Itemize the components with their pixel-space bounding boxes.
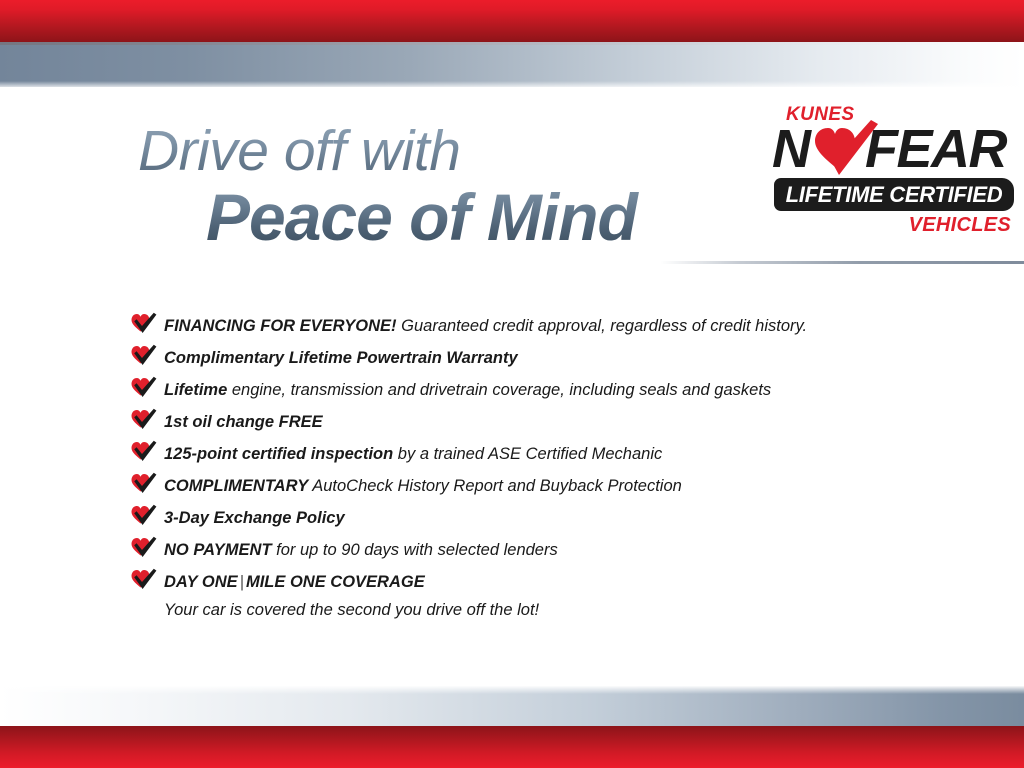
heart-check-bullet-icon <box>131 472 157 494</box>
logo-bar-label: LIFETIME CERTIFIED <box>786 182 1003 208</box>
list-item-separator: | <box>238 573 246 591</box>
list-item: NO PAYMENT for up to 90 days with select… <box>131 534 931 566</box>
logo-letter-n: N <box>772 122 810 176</box>
list-item: 1st oil change FREE <box>131 406 931 438</box>
bottom-red-band <box>0 726 1024 768</box>
heart-check-bullet-icon <box>131 568 157 590</box>
list-item-bold: Complimentary Lifetime Powertrain Warran… <box>164 349 518 367</box>
headline-line-1: Drive off with <box>138 122 758 180</box>
list-item-bold: COMPLIMENTARY <box>164 477 308 495</box>
list-item-rest: AutoCheck History Report and Buyback Pro… <box>308 477 682 495</box>
headline-line-2: Peace of Mind <box>206 184 758 251</box>
list-item: Lifetime engine, transmission and drivet… <box>131 374 931 406</box>
list-item-text: 3-Day Exchange Policy <box>164 502 931 534</box>
list-item: COMPLIMENTARY AutoCheck History Report a… <box>131 470 931 502</box>
headline: Drive off with Peace of Mind <box>138 122 758 251</box>
bottom-gray-band <box>0 686 1024 726</box>
list-item: DAY ONE|MILE ONE COVERAGE Your car is co… <box>131 566 931 622</box>
list-item-text: Lifetime engine, transmission and drivet… <box>164 374 931 406</box>
header-divider <box>660 261 1024 264</box>
list-item: 125-point certified inspection by a trai… <box>131 438 931 470</box>
kunes-no-fear-logo: KUNES N FEAR LIFETIME CERTIFIED VEHICLES <box>770 104 1015 244</box>
list-item-bold: Lifetime <box>164 381 227 399</box>
list-item-text: 125-point certified inspection by a trai… <box>164 438 931 470</box>
list-item-bold-b: MILE ONE COVERAGE <box>246 573 425 591</box>
promo-poster: Drive off with Peace of Mind KUNES N FEA… <box>0 0 1024 768</box>
heart-check-bullet-icon <box>131 344 157 366</box>
list-item-bold: FINANCING FOR EVERYONE! <box>164 317 397 335</box>
list-item-bold: 1st oil change FREE <box>164 413 323 431</box>
logo-word-fear: FEAR <box>865 122 1006 176</box>
list-item-text: FINANCING FOR EVERYONE! Guaranteed credi… <box>164 310 931 342</box>
list-item: 3-Day Exchange Policy <box>131 502 931 534</box>
list-item-subline: Your car is covered the second you drive… <box>164 598 931 622</box>
list-item-text: Complimentary Lifetime Powertrain Warran… <box>164 342 931 374</box>
list-item-text: NO PAYMENT for up to 90 days with select… <box>164 534 931 566</box>
heart-checkmark-icon <box>808 118 882 180</box>
heart-check-bullet-icon <box>131 376 157 398</box>
list-item: FINANCING FOR EVERYONE! Guaranteed credi… <box>131 310 931 342</box>
top-gray-band <box>0 42 1024 87</box>
logo-no-fear-wordmark: N FEAR <box>772 122 1015 178</box>
list-item-bold: NO PAYMENT <box>164 541 272 559</box>
list-item-text: COMPLIMENTARY AutoCheck History Report a… <box>164 470 931 502</box>
heart-check-bullet-icon <box>131 312 157 334</box>
heart-check-bullet-icon <box>131 440 157 462</box>
logo-vehicles-label: VEHICLES <box>909 214 1011 237</box>
top-red-band <box>0 0 1024 42</box>
heart-check-bullet-icon <box>131 504 157 526</box>
list-item-bold: 3-Day Exchange Policy <box>164 509 345 527</box>
heart-check-bullet-icon <box>131 408 157 430</box>
logo-lifetime-certified-bar: LIFETIME CERTIFIED <box>774 178 1014 211</box>
list-item-rest: Guaranteed credit approval, regardless o… <box>397 317 808 335</box>
benefits-list: FINANCING FOR EVERYONE! Guaranteed credi… <box>131 310 931 622</box>
list-item-rest: by a trained ASE Certified Mechanic <box>393 445 662 463</box>
list-item-bold: 125-point certified inspection <box>164 445 393 463</box>
list-item-text: 1st oil change FREE <box>164 406 931 438</box>
list-item: Complimentary Lifetime Powertrain Warran… <box>131 342 931 374</box>
heart-check-bullet-icon <box>131 536 157 558</box>
list-item-rest: for up to 90 days with selected lenders <box>272 541 558 559</box>
list-item-rest: engine, transmission and drivetrain cove… <box>227 381 771 399</box>
list-item-text: DAY ONE|MILE ONE COVERAGE <box>164 566 931 598</box>
list-item-bold-a: DAY ONE <box>164 573 238 591</box>
